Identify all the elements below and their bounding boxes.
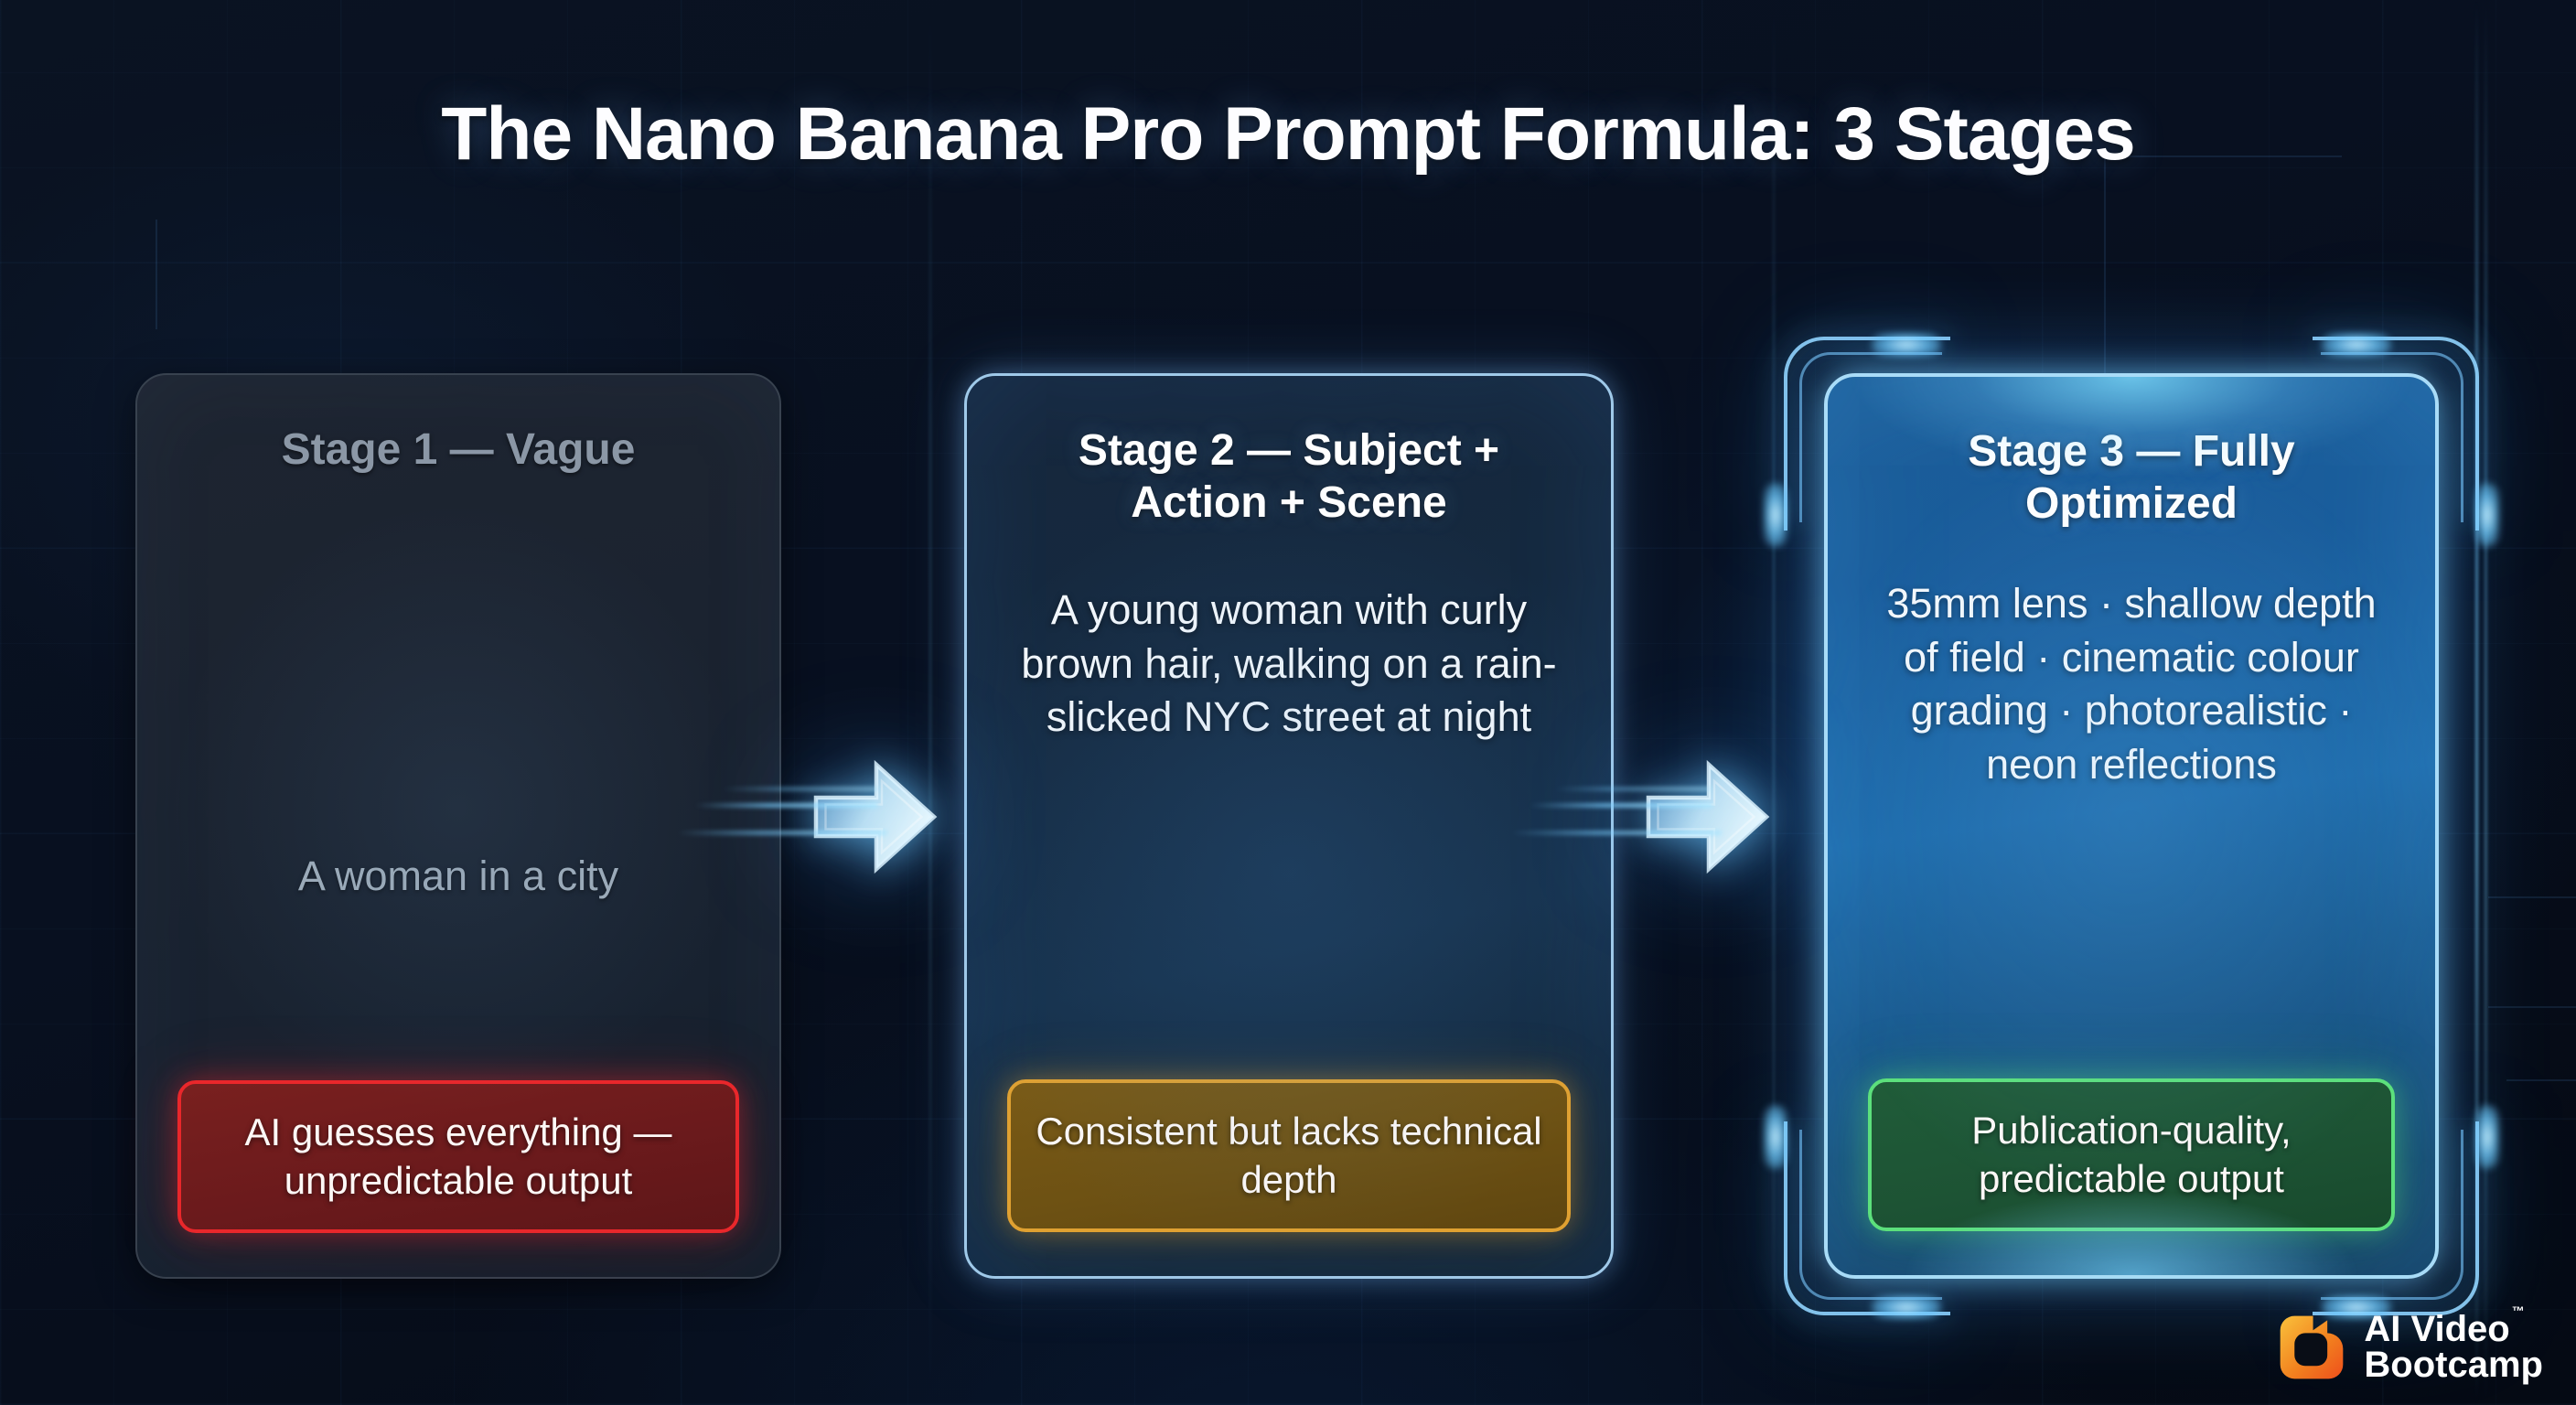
stage-3-title: Stage 3 — Fully Optimized bbox=[1868, 426, 2395, 530]
arrow-2-light-streak bbox=[1511, 831, 1722, 835]
stage-card-1[interactable]: Stage 1 — Vague A woman in a city AI gue… bbox=[135, 373, 781, 1279]
stage-1-title: Stage 1 — Vague bbox=[282, 424, 636, 477]
right-arrow-icon bbox=[1637, 748, 1775, 885]
logo-wordmark: AI Video™ Bootcamp bbox=[2364, 1312, 2543, 1383]
stage-2-body: A young woman with curly brown hair, wal… bbox=[1007, 584, 1571, 745]
stage-2-outcome-badge: Consistent but lacks technical depth bbox=[1007, 1079, 1571, 1233]
logo-line-1-text: AI Video bbox=[2364, 1309, 2509, 1349]
arrow-1-light-streak bbox=[723, 787, 878, 791]
stage-3-body-wrap: 35mm lens · shallow depth of field · cin… bbox=[1868, 577, 2395, 791]
stage-card-3[interactable]: Stage 3 — Fully Optimized 35mm lens · sh… bbox=[1824, 373, 2439, 1279]
infographic-canvas: The Nano Banana Pro Prompt Formula: 3 St… bbox=[0, 0, 2576, 1405]
stage-2-body-wrap: A young woman with curly brown hair, wal… bbox=[1007, 584, 1571, 745]
right-arrow-icon bbox=[805, 748, 942, 885]
arrow-2-light-streak bbox=[1529, 803, 1712, 808]
arrow-1-light-streak bbox=[695, 803, 878, 808]
stage-2-title: Stage 2 — Subject + Action + Scene bbox=[1007, 425, 1571, 529]
connector-arrow-1 bbox=[805, 748, 942, 885]
arrow-2-light-streak bbox=[1555, 787, 1711, 791]
logo-line-1: AI Video™ bbox=[2364, 1312, 2543, 1347]
stage-3-outcome-badge: Publication-quality, predictable output bbox=[1868, 1078, 2395, 1232]
stage-1-body: A woman in a city bbox=[298, 850, 618, 904]
connector-arrow-2 bbox=[1637, 748, 1775, 885]
stage-3-body: 35mm lens · shallow depth of field · cin… bbox=[1868, 577, 2395, 791]
trademark-symbol: ™ bbox=[2512, 1303, 2525, 1318]
arrow-1-light-streak bbox=[677, 831, 887, 835]
stage-1-outcome-badge: AI guesses everything — unpredictable ou… bbox=[177, 1080, 739, 1234]
stages-row: Stage 1 — Vague A woman in a city AI gue… bbox=[0, 0, 2576, 1405]
stage-card-2[interactable]: Stage 2 — Subject + Action + Scene A you… bbox=[964, 373, 1614, 1279]
brand-logo[interactable]: AI Video™ Bootcamp bbox=[2276, 1312, 2543, 1383]
logo-line-2: Bootcamp bbox=[2364, 1347, 2543, 1383]
ai-video-bootcamp-logo-mark-icon bbox=[2276, 1312, 2347, 1383]
